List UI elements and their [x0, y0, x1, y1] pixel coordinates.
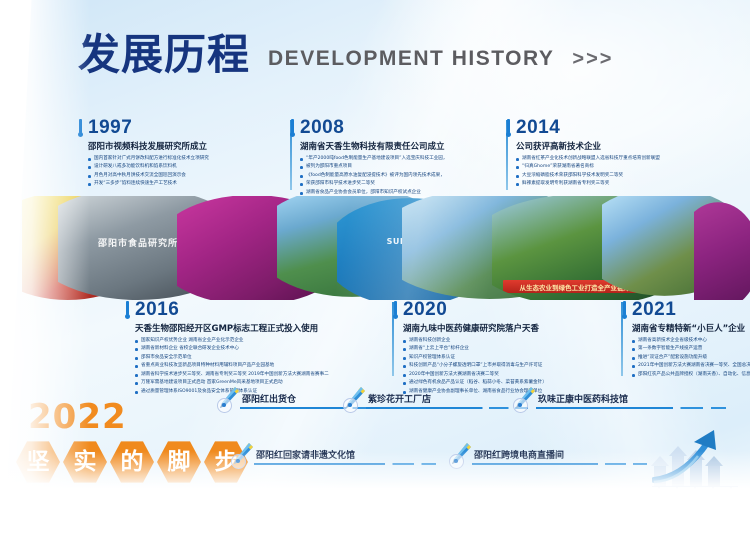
slogan-hex-4: 脚 [157, 440, 201, 484]
footer-item-rule [472, 463, 647, 465]
pencil-halo [449, 454, 464, 469]
timeline-pin-icon [291, 119, 294, 133]
bottom-wave-decoration [0, 481, 750, 541]
milestone-bullet-list: 湖南省红茶产业化技术创新战略联盟入选省科技厅重点培育创新联盟 “归真Ghome”… [516, 155, 731, 189]
slogan-char: 实 [74, 451, 97, 474]
list-item: 邵阳市食品安全示范单位 [135, 354, 385, 362]
milestone-2021: 2021 湖南省专精特新“小巨人”企业 湖南省高新技术企业省级技术中心 第一条数… [632, 300, 750, 379]
footer-item-label: 玖味正康中医药科技馆 [538, 392, 628, 405]
footer-item-rule [366, 407, 528, 409]
footer-item-label: 邵阳红跨境电商直播间 [474, 448, 564, 461]
milestone-bullet-list: 湖南省高新技术企业省级技术中心 第一条数字智能生产线投产运营 推进“双证合产”配… [632, 337, 750, 379]
footer-item-tcm-museum[interactable]: 玖味正康中医药科技馆 [512, 392, 722, 418]
slogan-hex-3: 的 [110, 440, 154, 484]
timeline-pin-icon [394, 301, 397, 315]
milestone-headline: 湖南省专精特新“小巨人”企业 [632, 322, 750, 334]
timeline-pin-icon [126, 301, 129, 315]
slogan-char: 脚 [168, 451, 191, 474]
pencil-halo [513, 398, 528, 413]
photo-purple-right [694, 196, 750, 300]
pencil-icon [342, 386, 366, 412]
list-item: “年产2000吨food色制能量生产基地建设项目”入选宝庆科技工业园， [300, 155, 505, 163]
footer-item-label: 邵阳红回家请非遗文化馆 [256, 448, 355, 461]
list-item: 2020年中国创新方法大赛湖南省决赛二等奖 [403, 371, 618, 379]
milestone-bullet-list: “年产2000吨food色制能量生产基地建设项目”入选宝庆科技工业园， 被列为邵… [300, 155, 505, 197]
milestone-2020: 2020 湖南九味中医药健康研究院落户天香 湖南省科技创新企业 湖南省“上云上平… [403, 300, 618, 396]
slogan-char: 的 [121, 451, 144, 474]
list-item: 月色月对高中秋月饼技术交流全国巡回演示会 [88, 172, 288, 180]
pencil-halo [217, 398, 232, 413]
pencil-halo [343, 398, 358, 413]
page-title-en: DEVELOPMENT HISTORY [268, 47, 554, 76]
footer-item-factory-store[interactable]: 紫珍花开工厂店 [342, 392, 532, 418]
list-item: 省重点商业科技攻坚新品项目特种材料用辅料项目产品产业园基地 [135, 362, 385, 370]
list-item: 被列为邵阳市重点项目 [300, 163, 505, 171]
list-item: 大豆浓缩磷脂技术荣获邵阳科学技术发明奖二等奖 [516, 172, 731, 180]
list-item: 科技创新产品“小分子螺旋透明口罩”上市并取得消毒与生产许可证 [403, 362, 618, 370]
milestone-2014: 2014 公司获评高新技术企业 湖南省红茶产业化技术创新战略联盟入选省科技厅重点… [516, 118, 731, 189]
footer-item-heritage-hall[interactable]: 邵阳红回家请非遗文化馆 [230, 448, 430, 474]
footer-item-label: 邵阳红出货仓 [242, 392, 296, 405]
milestone-year: 2020 [403, 300, 618, 319]
list-item: 湖南省科学技术进步奖三等奖、湖南省专利奖三等奖 2019年中国创新方法大赛湖南省… [135, 371, 385, 379]
footer-slogan: 坚 实 的 脚 步 [16, 440, 248, 484]
timeline-pin-icon [623, 301, 626, 315]
pencil-icon [216, 386, 240, 412]
footer-item-label: 紫珍花开工厂店 [368, 392, 431, 405]
footer-item-rule [254, 463, 436, 465]
milestone-year: 2021 [632, 300, 750, 319]
list-item: 推进“双证合产”配套设施功能升级 [632, 354, 750, 362]
list-item: 荣获邵阳市科学技术进步奖二等奖 [300, 180, 505, 188]
milestone-headline: 邵阳市视频科技发展研究所成立 [88, 140, 288, 152]
list-item: 知识产权管理体系认证 [403, 354, 618, 362]
list-item: 《food色制能量高原水油复配浸提技术》被评为国内领先技术成果， [300, 172, 505, 180]
list-item: 湖南省新材料企业 省校企联合研发企业技术中心 [135, 345, 385, 353]
milestone-headline: 天香生物邵阳经开区GMP标志工程正式投入使用 [135, 322, 385, 334]
milestone-year: 2016 [135, 300, 385, 319]
list-item: 湖南省“上云上平台”标杆企业 [403, 345, 618, 353]
development-history-poster: 发展历程 DEVELOPMENT HISTORY >>> 1997 邵阳市视频科… [0, 0, 750, 541]
list-item: 2021年中国创新方法大赛湖南省决赛一等奖、全国总决赛三等奖 [632, 362, 750, 370]
list-item: 邵阳红农产品公共品牌授权（湖南天香）、自动化、信息化应用 [632, 371, 750, 379]
milestone-year: 2008 [300, 118, 505, 137]
milestone-2016: 2016 天香生物邵阳经开区GMP标志工程正式投入使用 国家知识产权优势企业 湖… [135, 300, 385, 396]
milestone-1997: 1997 邵阳市视频科技发展研究所成立 国内首家针对广式月饼改科配方进行标准化技… [88, 118, 288, 189]
footer-item-rule [536, 407, 726, 409]
list-item: “归真Ghome”荣获湖南省著名商标 [516, 163, 731, 171]
milestone-2008: 2008 湖南省天香生物科技有限责任公司成立 “年产2000吨food色制能量生… [300, 118, 505, 197]
list-item: 第一条数字智能生产线投产运营 [632, 345, 750, 353]
timeline-pin-icon [507, 119, 510, 133]
timeline-pin-icon [79, 119, 82, 133]
poster-header: 发展历程 DEVELOPMENT HISTORY >>> [78, 34, 613, 76]
pencil-icon [230, 442, 254, 468]
list-item: 设计研发八戒多功能饮料机和馅系饮料机 [88, 163, 288, 171]
slogan-hex-1: 坚 [16, 440, 60, 484]
list-item: 开发“三多步”馅料连续快速生产工艺技术 [88, 180, 288, 188]
list-item: 湖南省红茶产业化技术创新战略联盟入选省科技厅重点培育创新联盟 [516, 155, 731, 163]
footer-item-livestream-room[interactable]: 邵阳红跨境电商直播间 [448, 448, 648, 474]
list-item: 通过绿色有机食品产品认证（稻谷、稻蒜小冬、菜苔黄系紫薯金针） [403, 379, 618, 387]
slogan-char: 坚 [27, 451, 50, 474]
page-title-cn: 发展历程 [78, 34, 250, 76]
pencil-icon [448, 442, 472, 468]
list-item: 湖南省科技创新企业 [403, 337, 618, 345]
pencil-icon [512, 386, 536, 412]
milestone-year: 2014 [516, 118, 731, 137]
pencil-halo [231, 454, 246, 469]
list-item: 湖南省高新技术企业省级技术中心 [632, 337, 750, 345]
milestone-headline: 公司获评高新技术企业 [516, 140, 731, 152]
list-item: 国内首家针对广式月饼改科配方进行标准化技术立项研究 [88, 155, 288, 163]
title-arrows-icon: >>> [572, 48, 613, 76]
photo-strip: 美食 邵阳市食品研究所 SUN 口罩 从生态农业到绿色工业打造全产业链绿色食品 [22, 196, 736, 300]
footer-year-2022: 2022 [28, 400, 127, 434]
milestone-year: 1997 [88, 118, 288, 137]
list-item: 国家知识产权优势企业 湖南省企业产业化示范企业 [135, 337, 385, 345]
milestone-headline: 湖南省天香生物科技有限责任公司成立 [300, 140, 505, 152]
milestone-headline: 湖南九味中医药健康研究院落户天香 [403, 322, 618, 334]
milestone-bullet-list: 国内首家针对广式月饼改科配方进行标准化技术立项研究 设计研发八戒多功能饮料机和馅… [88, 155, 288, 189]
list-item: 鲜辣素提取发明专利获湖南省专利奖三等奖 [516, 180, 731, 188]
slogan-hex-2: 实 [63, 440, 107, 484]
milestone-bullet-list: 湖南省科技创新企业 湖南省“上云上平台”标杆企业 知识产权管理体系认证 科技创新… [403, 337, 618, 396]
